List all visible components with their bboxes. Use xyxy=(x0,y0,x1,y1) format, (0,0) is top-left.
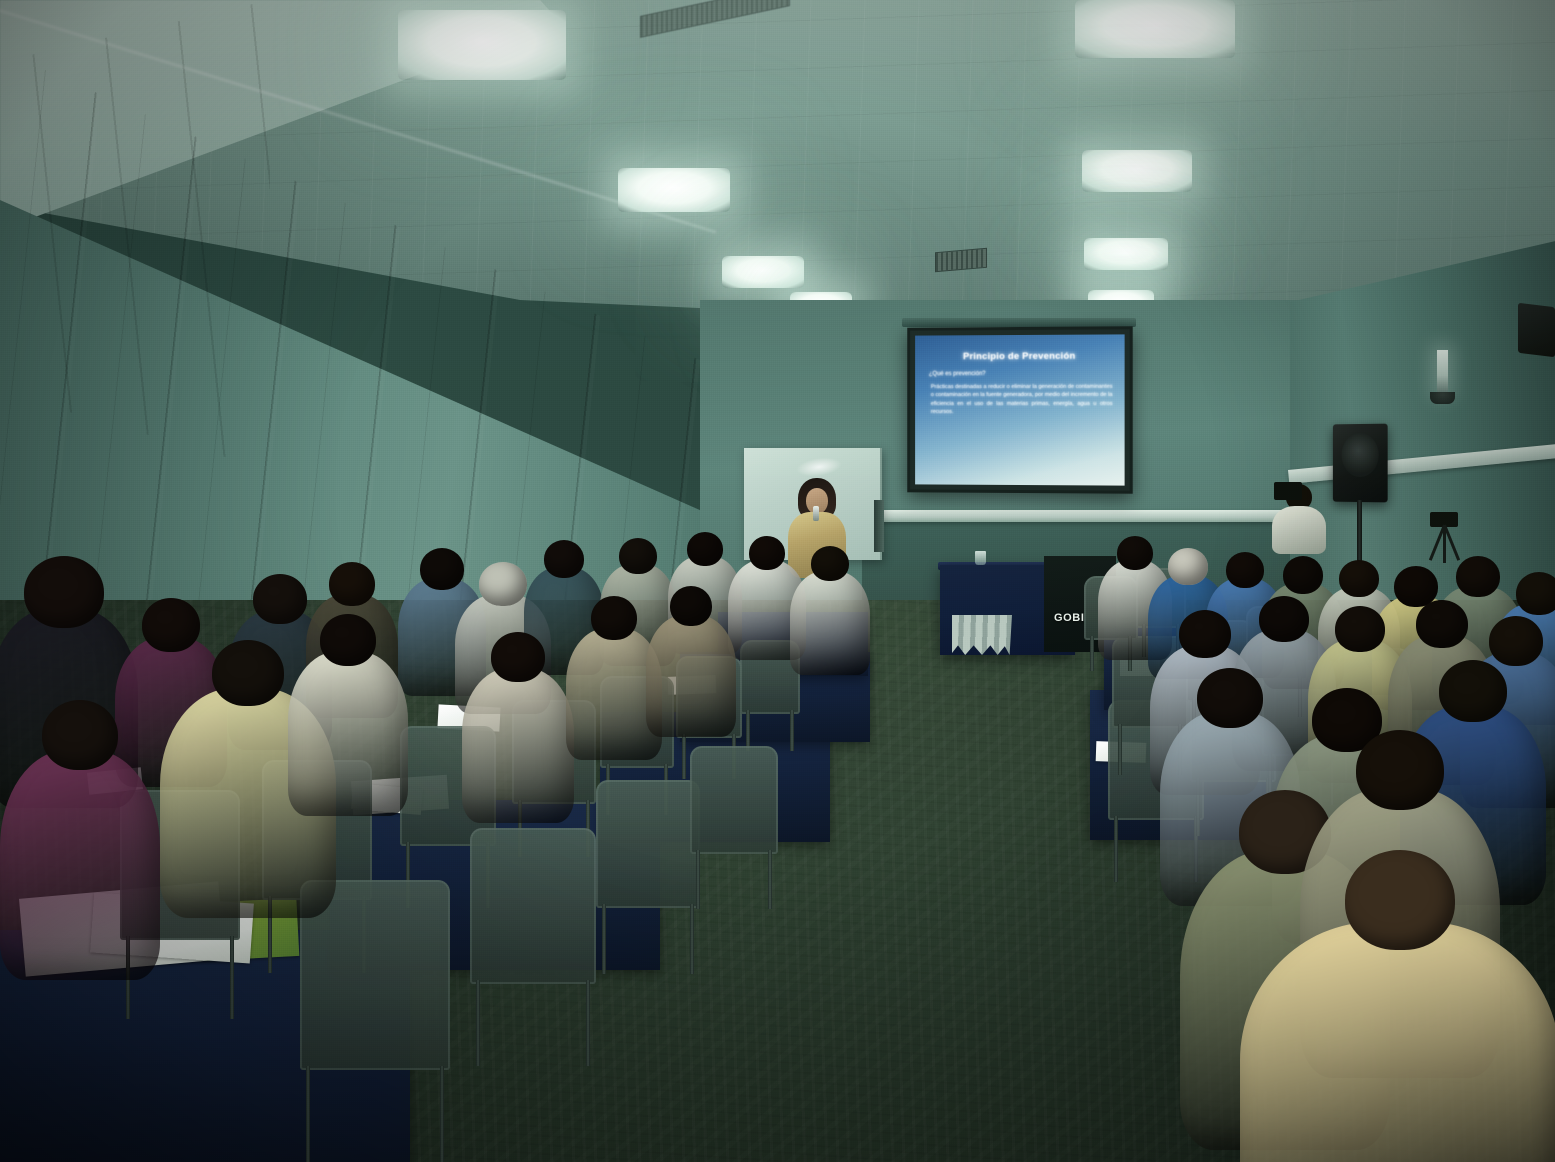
attendee-head xyxy=(591,596,637,640)
ceiling-light-panel xyxy=(618,168,730,212)
attendee-head xyxy=(1197,668,1263,728)
photo-scene: Principio de Prevención ¿Qué es prevenci… xyxy=(0,0,1555,1162)
chair-leg xyxy=(440,1066,444,1162)
handheld-camera-icon xyxy=(1274,482,1302,500)
chair-leg xyxy=(746,710,750,751)
back-wall-chair-rail xyxy=(862,510,1294,522)
chair-leg xyxy=(230,936,234,1019)
attendee-head xyxy=(320,614,376,666)
attendee-head xyxy=(1335,606,1385,652)
chair-leg xyxy=(586,980,590,1066)
attendee-head xyxy=(670,586,712,626)
ceiling-light-panel xyxy=(398,10,566,80)
attendee-head xyxy=(544,540,584,578)
attendee-head xyxy=(619,538,657,574)
chair-leg xyxy=(1090,636,1094,671)
slide-question: ¿Qué es prevención? xyxy=(929,371,986,377)
projection-screen: Principio de Prevención ¿Qué es prevenci… xyxy=(907,326,1132,493)
chair-leg xyxy=(790,710,794,751)
chair xyxy=(690,746,778,854)
attendee xyxy=(462,632,574,837)
slide-body-text: Prácticas destinadas a reducir o elimina… xyxy=(931,383,1113,417)
ceiling-light-panel xyxy=(1075,0,1235,58)
attendee-head xyxy=(491,632,545,682)
attendee-torso xyxy=(790,571,870,675)
ceiling-light-panel xyxy=(722,256,804,288)
attendee-head xyxy=(1489,616,1543,666)
chair-leg xyxy=(306,1066,310,1162)
attendee-head xyxy=(1259,596,1309,642)
ceiling-light-panel xyxy=(1082,150,1192,192)
water-glass xyxy=(975,551,986,565)
attendee xyxy=(0,700,160,1000)
chair-leg xyxy=(696,850,700,909)
attendee-head xyxy=(42,700,118,770)
chair xyxy=(470,828,596,984)
attendee-head xyxy=(1283,556,1323,594)
attendee-head xyxy=(479,562,527,606)
slide-surface: Principio de Prevención ¿Qué es prevenci… xyxy=(915,334,1125,485)
attendee-head xyxy=(749,536,785,570)
attendee-head xyxy=(1345,850,1455,950)
attendee-torso xyxy=(1240,922,1555,1162)
chair-leg xyxy=(768,850,772,909)
slide-title: Principio de Prevención xyxy=(915,351,1125,363)
chair-leg xyxy=(1114,816,1118,882)
attendee-head xyxy=(1356,730,1444,810)
attendee-torso xyxy=(0,750,160,980)
attendee xyxy=(646,586,736,748)
attendee-head xyxy=(687,532,723,566)
attendee xyxy=(288,614,408,831)
board-edge-post xyxy=(874,500,884,552)
attendee-head xyxy=(1516,572,1555,615)
camera-operator xyxy=(1268,478,1338,552)
camera-tripod xyxy=(1416,512,1476,558)
attendee-head xyxy=(212,640,284,706)
chair-leg xyxy=(602,904,606,974)
chair-leg xyxy=(476,980,480,1066)
attendee-head xyxy=(24,556,104,628)
wall-sconce-light xyxy=(1437,350,1448,392)
wall-speaker xyxy=(1518,303,1555,358)
chair xyxy=(596,780,700,908)
attendee-head xyxy=(1439,660,1507,722)
chair-leg xyxy=(690,904,694,974)
whiteboard-marking xyxy=(795,455,843,479)
wall-sconce-base xyxy=(1430,392,1455,404)
attendee xyxy=(790,546,870,685)
attendee xyxy=(1240,850,1555,1162)
microphone-icon xyxy=(813,506,819,521)
attendee-head xyxy=(1226,552,1264,588)
table-banner-text: GOBI xyxy=(1054,612,1085,624)
ceiling-light-panel xyxy=(1084,238,1168,270)
chair-leg xyxy=(1118,724,1122,775)
pa-speaker xyxy=(1333,424,1388,503)
attendee-head xyxy=(1168,548,1208,585)
attendee-torso xyxy=(646,615,736,737)
attendee-torso xyxy=(288,651,408,816)
attendee-head xyxy=(811,546,849,581)
camera-operator-torso xyxy=(1272,506,1326,554)
attendee-head xyxy=(1179,610,1231,658)
attendee-head xyxy=(329,562,375,606)
attendee-torso xyxy=(462,668,574,823)
